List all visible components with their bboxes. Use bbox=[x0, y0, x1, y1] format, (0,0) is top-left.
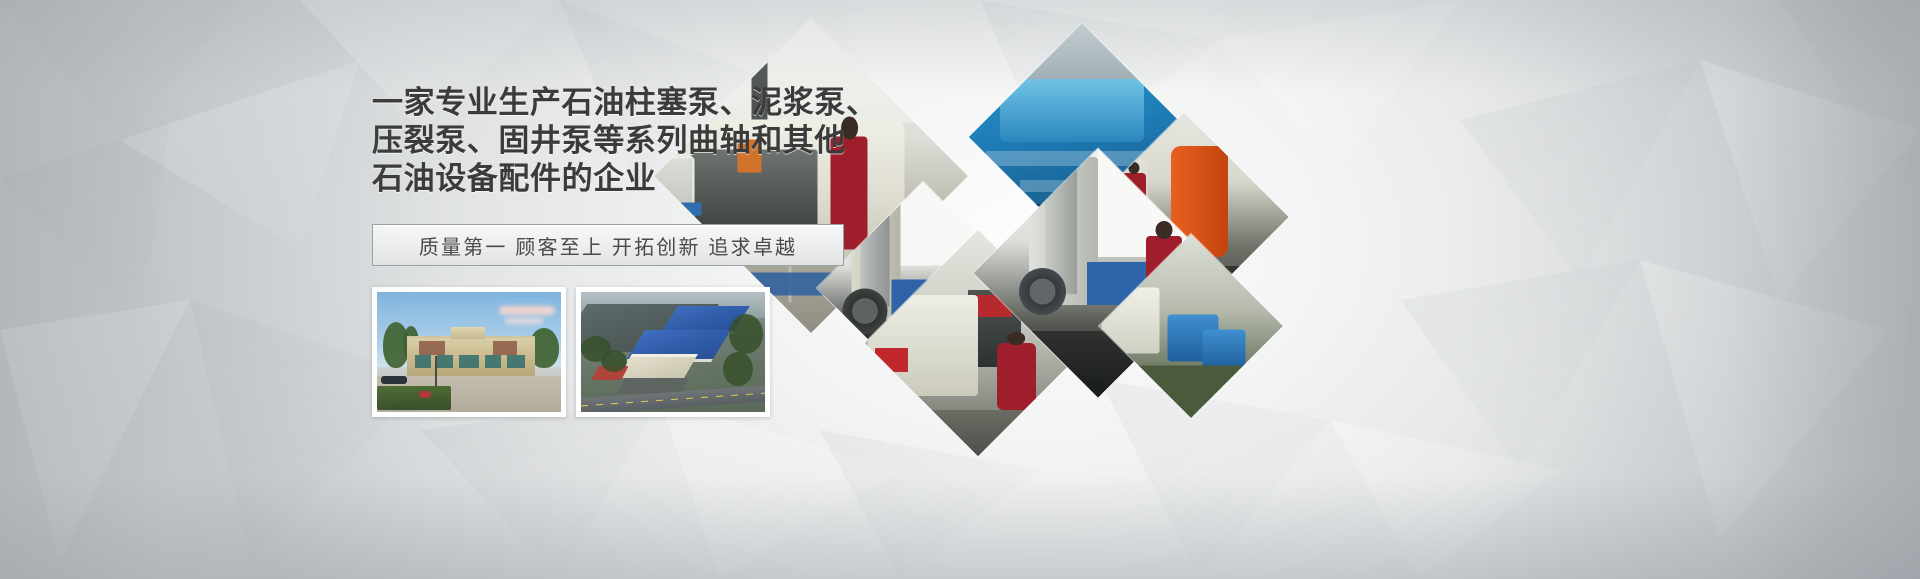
factory-aerial-photo[interactable] bbox=[576, 287, 770, 417]
thumbnail-row bbox=[372, 287, 892, 417]
headline-line-3: 石油设备配件的企业 bbox=[372, 160, 892, 198]
headline-line-2: 压裂泵、固井泵等系列曲轴和其他 bbox=[372, 122, 892, 160]
headline-line-1: 一家专业生产石油柱塞泵、泥浆泵、 bbox=[372, 84, 892, 122]
banner-copy: 一家专业生产石油柱塞泵、泥浆泵、 压裂泵、固井泵等系列曲轴和其他 石油设备配件的… bbox=[372, 84, 892, 417]
hero-banner: 一家专业生产石油柱塞泵、泥浆泵、 压裂泵、固井泵等系列曲轴和其他 石油设备配件的… bbox=[0, 0, 1920, 579]
slogan-box: 质量第一 顾客至上 开拓创新 追求卓越 bbox=[372, 224, 844, 266]
office-building-photo[interactable] bbox=[372, 287, 566, 417]
slogan-text: 质量第一 顾客至上 开拓创新 追求卓越 bbox=[419, 231, 797, 260]
